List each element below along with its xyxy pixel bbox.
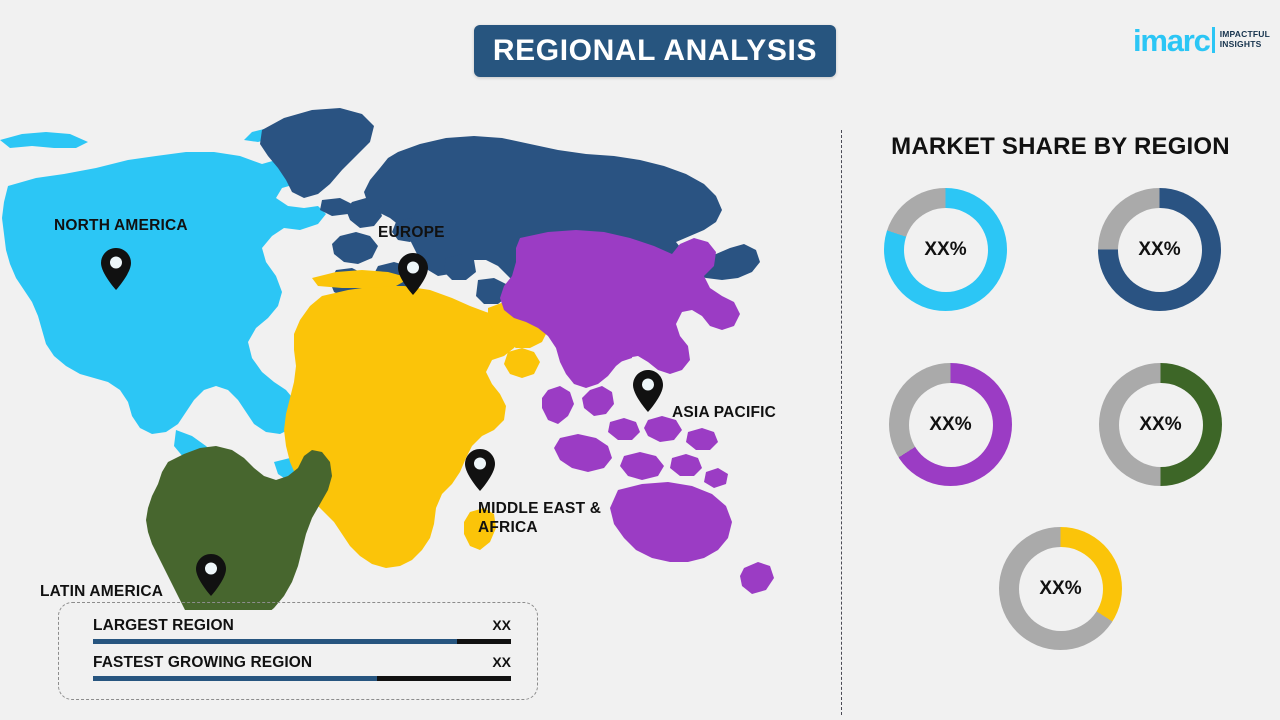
donut-chart-europe: XX% [1098, 188, 1221, 311]
title-banner: REGIONAL ANALYSIS [474, 25, 836, 77]
logo-tagline-line2: INSIGHTS [1220, 40, 1270, 50]
legend-box: LARGEST REGION XX FASTEST GROWING REGION… [58, 602, 538, 700]
legend-bar-fill-largest-region [93, 639, 457, 644]
map-label-asia-pacific: ASIA PACIFIC [672, 403, 776, 422]
map-label-middle-east-africa: MIDDLE EAST & AFRICA [478, 499, 601, 538]
donut-chart-north-america: XX% [884, 188, 1007, 311]
legend-bar-fill-fastest-growing-region [93, 676, 377, 681]
map-label-latin-america: LATIN AMERICA [40, 582, 163, 601]
map-pin-north-america-icon[interactable] [101, 248, 131, 295]
donut-value-latin-america: XX% [1139, 414, 1181, 436]
legend-row-largest-region: LARGEST REGION XX [93, 617, 511, 644]
map-pin-latin-america-icon[interactable] [196, 554, 226, 601]
donut-hole-asia-pacific: XX% [909, 383, 993, 467]
map-pin-asia-pacific-icon[interactable] [633, 370, 663, 417]
donut-hole-north-america: XX% [904, 208, 988, 292]
map-pin-europe-icon[interactable] [398, 253, 428, 300]
legend-value-largest-region: XX [492, 617, 511, 633]
legend-label-largest-region: LARGEST REGION [93, 617, 234, 635]
legend-label-fastest-growing-region: FASTEST GROWING REGION [93, 654, 312, 672]
legend-bar-track-largest-region [93, 639, 511, 644]
donut-chart-asia-pacific: XX% [889, 363, 1012, 486]
donut-value-north-america: XX% [924, 239, 966, 261]
page-title: REGIONAL ANALYSIS [493, 34, 817, 68]
logo-tagline: IMPACTFUL INSIGHTS [1220, 30, 1270, 50]
donut-hole-latin-america: XX% [1119, 383, 1203, 467]
map-label-europe: EUROPE [378, 223, 445, 242]
panel-title-market-share: MARKET SHARE BY REGION [841, 133, 1280, 161]
legend-bar-track-fastest-growing-region [93, 676, 511, 681]
legend-value-fastest-growing-region: XX [492, 654, 511, 670]
donut-value-europe: XX% [1138, 239, 1180, 261]
donut-hole-europe: XX% [1118, 208, 1202, 292]
infographic-canvas: REGIONAL ANALYSIS imarc IMPACTFUL INSIGH… [0, 0, 1280, 720]
legend-row-fastest-growing-region: FASTEST GROWING REGION XX [93, 654, 511, 681]
section-divider [841, 130, 842, 715]
logo-wordmark: imarc [1133, 25, 1210, 56]
logo-divider-bar [1212, 27, 1215, 53]
donut-chart-latin-america: XX% [1099, 363, 1222, 486]
map-label-north-america: NORTH AMERICA [54, 216, 188, 235]
world-map: NORTH AMERICA EUROPE ASIA PACIFIC MIDDLE… [0, 90, 830, 610]
donut-chart-middle-east-africa: XX% [999, 527, 1122, 650]
map-pin-middle-east-africa-icon[interactable] [465, 449, 495, 496]
imarc-logo: imarc IMPACTFUL INSIGHTS [1133, 22, 1270, 58]
donut-value-asia-pacific: XX% [929, 414, 971, 436]
map-region-latin-america [146, 446, 332, 610]
donut-hole-middle-east-africa: XX% [1019, 547, 1103, 631]
donut-value-middle-east-africa: XX% [1039, 578, 1081, 600]
